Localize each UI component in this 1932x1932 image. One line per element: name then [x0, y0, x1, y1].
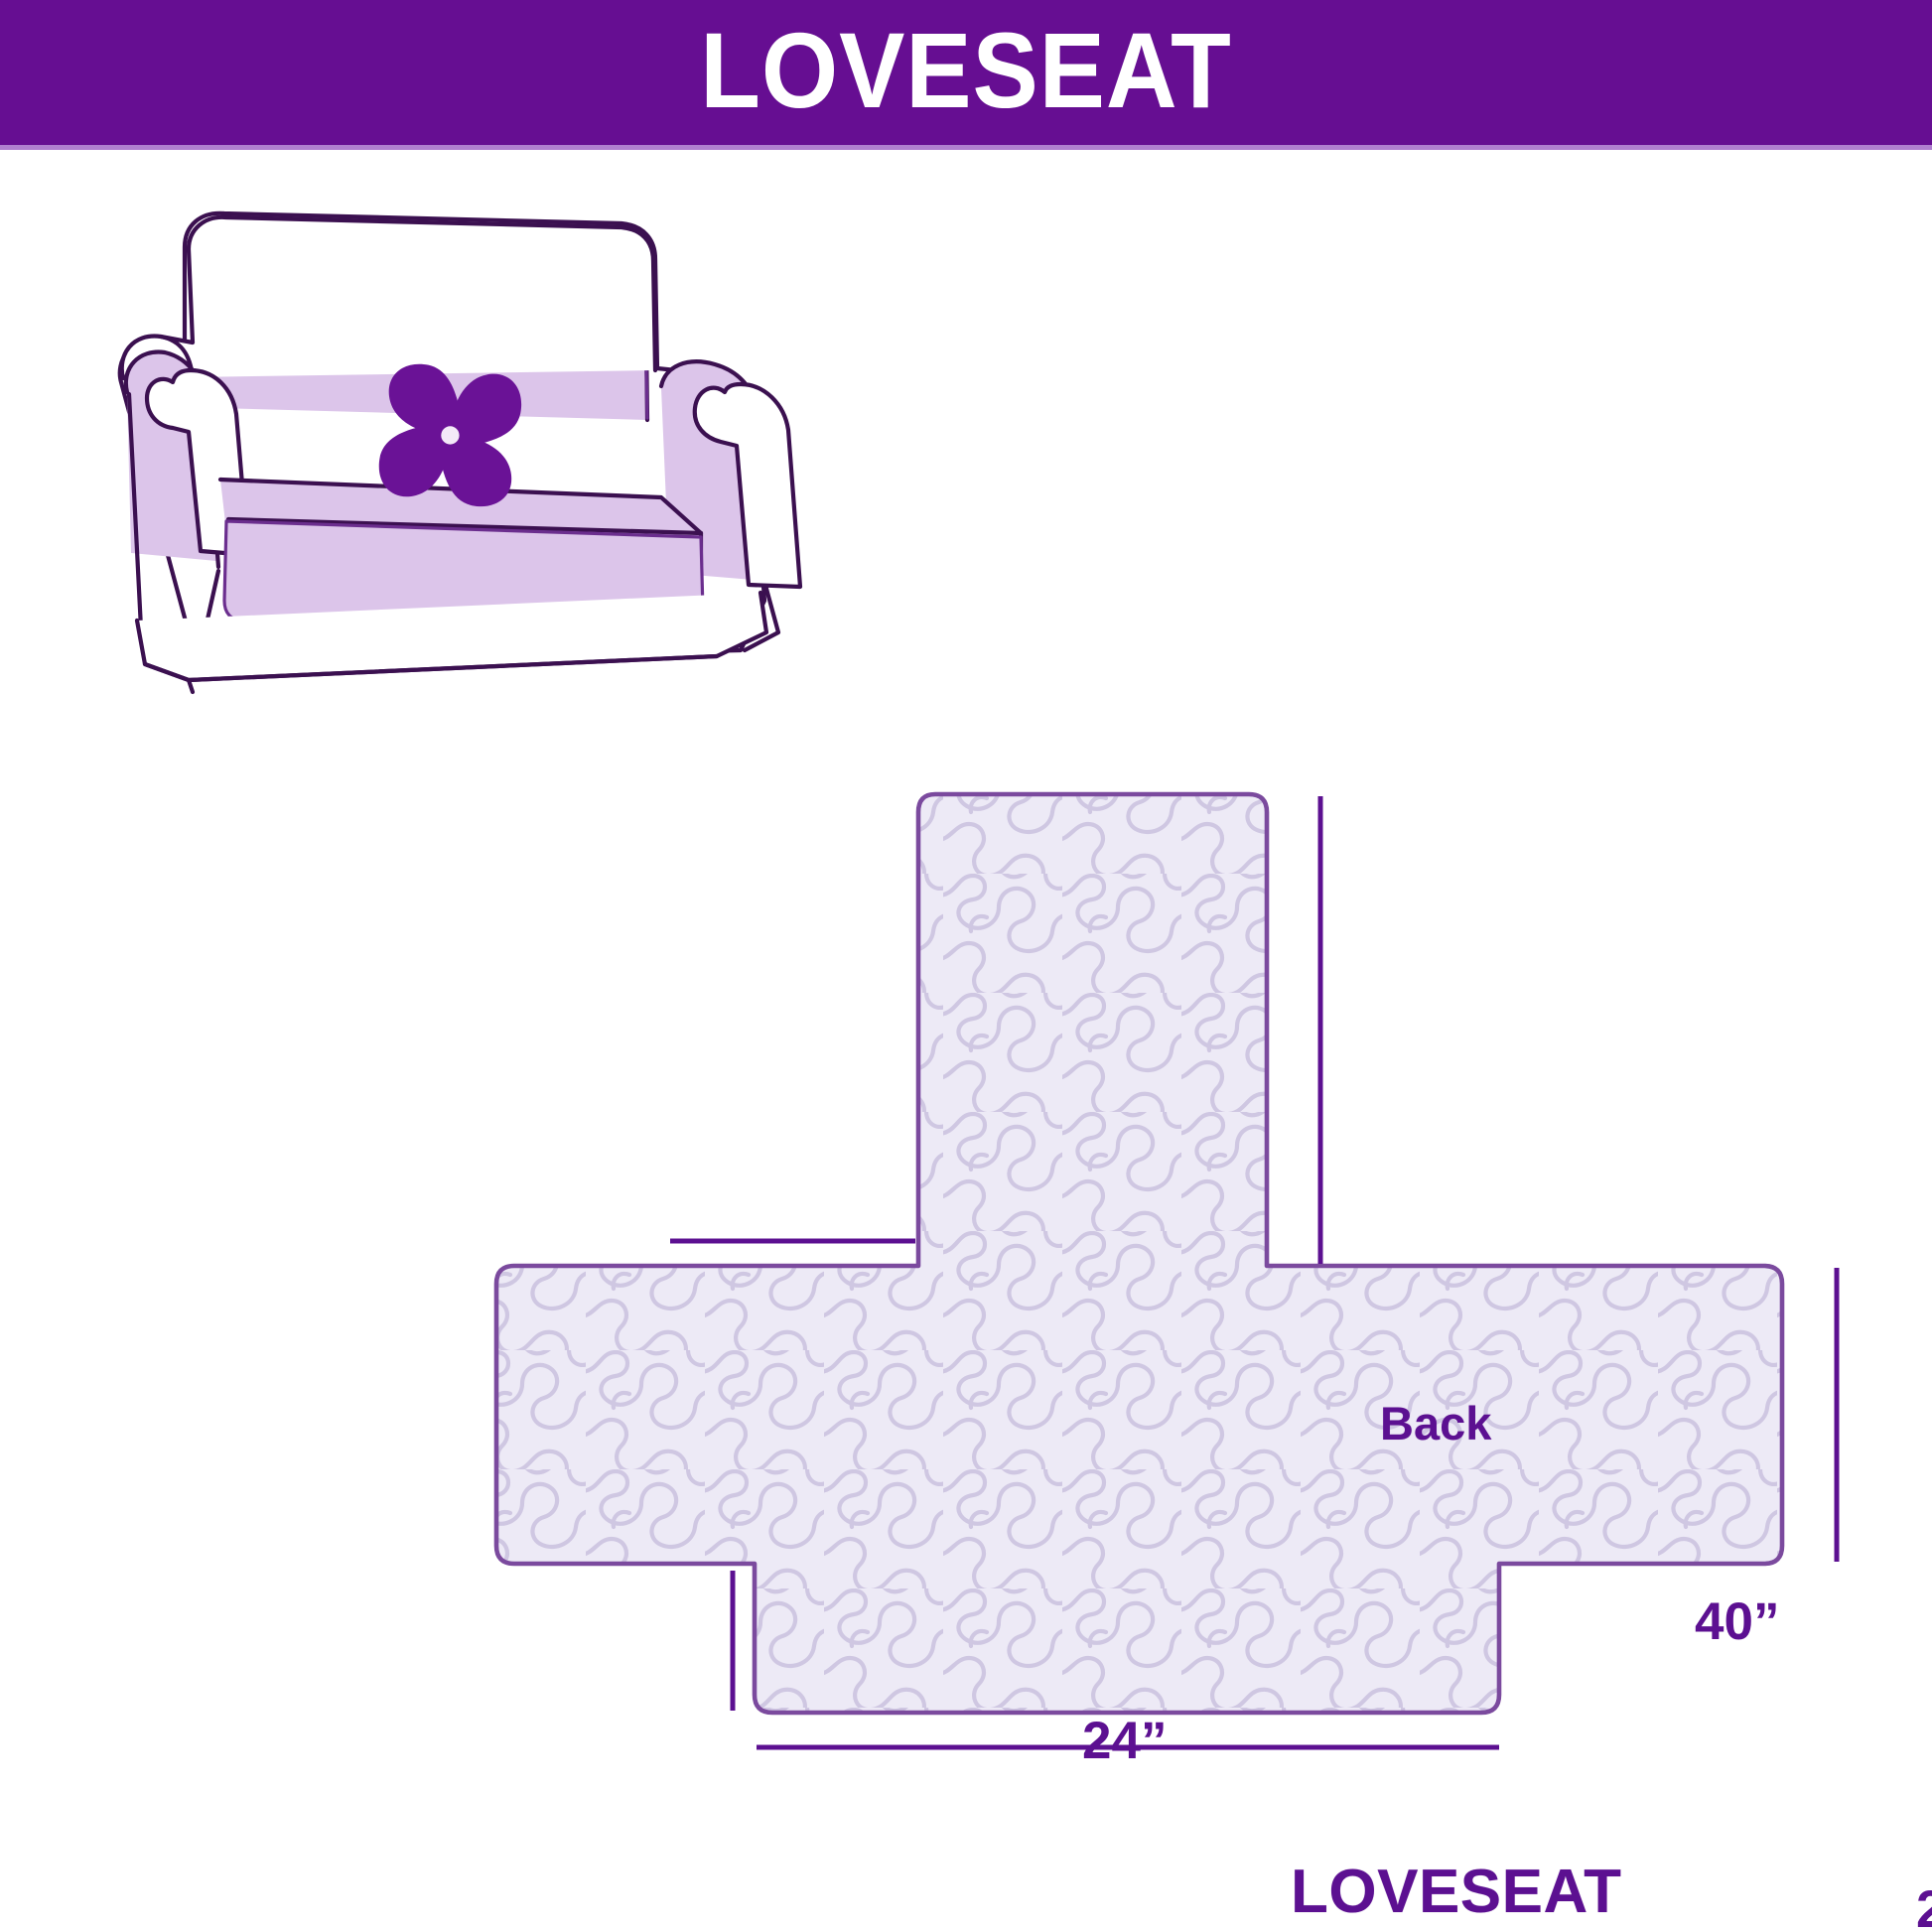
cross-pattern-svg [467, 755, 1932, 1932]
loveseat-illustration: .ln { fill:none; stroke:#3B1050; stroke-… [69, 184, 943, 700]
flat-pattern-diagram: Back LOVESEAT Armrest Armrest Front 40” … [467, 755, 1932, 1932]
pinwheel-fan-icon [379, 364, 521, 506]
cross-panel-outline [496, 794, 1782, 1713]
loveseat-size-chart: LOVESEAT .ln { fill:none; stroke:#3B1050… [0, 0, 1932, 1932]
dimension-label-back-offset: 24” [1082, 1715, 1167, 1767]
header-banner: LOVESEAT [0, 0, 1932, 145]
dimension-label-armrest-depth: 23” [1916, 1883, 1932, 1932]
page-title: LOVESEAT [700, 17, 1232, 124]
panel-label-back: Back [1380, 1400, 1491, 1447]
cross-panel [496, 794, 1782, 1713]
sofa-sketch-svg: .ln { fill:none; stroke:#3B1050; stroke-… [69, 184, 943, 700]
panel-label-center: LOVESEAT [1291, 1862, 1622, 1923]
dimension-label-back-height: 40” [1695, 1595, 1779, 1648]
header-underline [0, 145, 1932, 150]
